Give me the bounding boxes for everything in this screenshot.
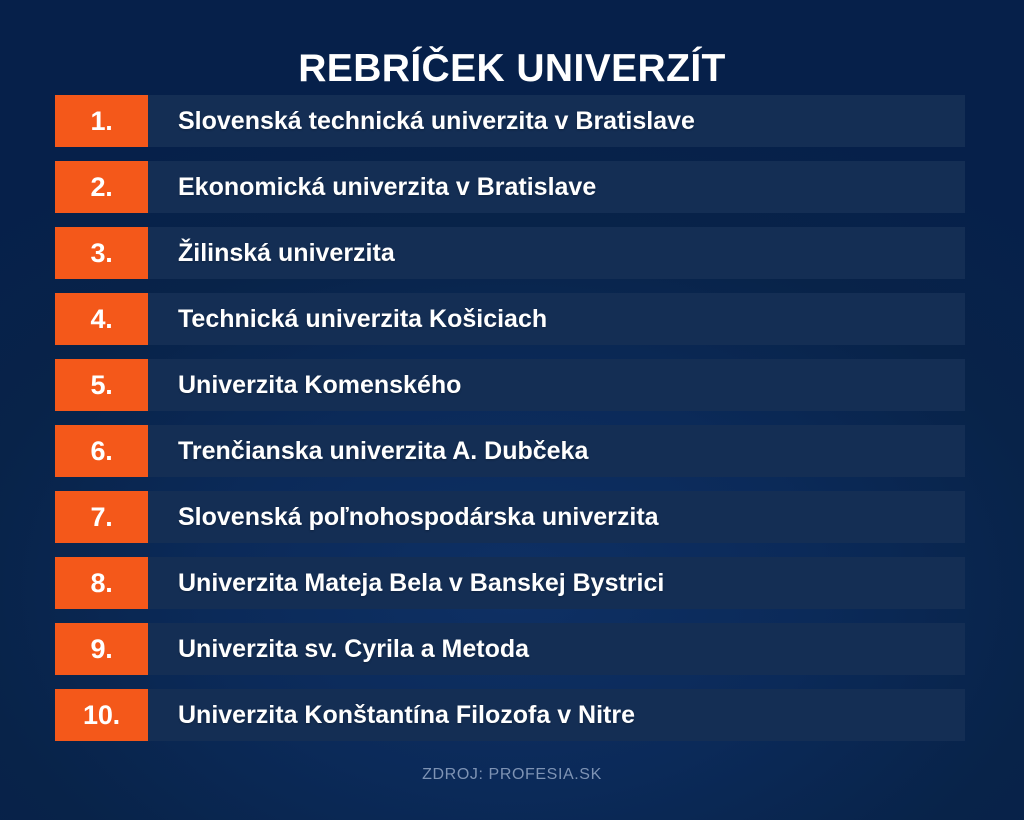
list-item: 2. Ekonomická univerzita v Bratislave	[55, 161, 965, 213]
rank-number: 7.	[90, 504, 112, 531]
list-item: 1. Slovenská technická univerzita v Brat…	[55, 95, 965, 147]
university-name: Technická univerzita Košiciach	[148, 293, 547, 345]
list-item: 4. Technická univerzita Košiciach	[55, 293, 965, 345]
rank-number: 4.	[90, 306, 112, 333]
source-attribution: ZDROJ: PROFESIA.SK	[422, 765, 602, 785]
rank-number: 9.	[90, 636, 112, 663]
university-name: Žilinská univerzita	[148, 227, 395, 279]
list-item: 10. Univerzita Konštantína Filozofa v Ni…	[55, 689, 965, 741]
university-name: Ekonomická univerzita v Bratislave	[148, 161, 596, 213]
list-item: 9. Univerzita sv. Cyrila a Metoda	[55, 623, 965, 675]
rank-badge: 3.	[55, 227, 148, 279]
rank-badge: 2.	[55, 161, 148, 213]
rank-number: 5.	[90, 372, 112, 399]
university-name: Univerzita Konštantína Filozofa v Nitre	[148, 689, 635, 741]
rank-badge: 7.	[55, 491, 148, 543]
university-name: Slovenská technická univerzita v Bratisl…	[148, 95, 695, 147]
list-item: 6. Trenčianska univerzita A. Dubčeka	[55, 425, 965, 477]
rank-number: 8.	[90, 570, 112, 597]
source-container: ZDROJ: PROFESIA.SK	[0, 765, 1024, 785]
rank-badge: 1.	[55, 95, 148, 147]
list-item: 3. Žilinská univerzita	[55, 227, 965, 279]
rank-number: 6.	[90, 438, 112, 465]
ranking-list: 1. Slovenská technická univerzita v Brat…	[55, 95, 965, 741]
rank-number: 10.	[83, 702, 120, 729]
rank-badge: 5.	[55, 359, 148, 411]
rank-badge: 6.	[55, 425, 148, 477]
rank-number: 3.	[90, 240, 112, 267]
rank-badge: 8.	[55, 557, 148, 609]
rank-badge: 10.	[55, 689, 148, 741]
university-name: Trenčianska univerzita A. Dubčeka	[148, 425, 588, 477]
list-item: 8. Univerzita Mateja Bela v Banskej Byst…	[55, 557, 965, 609]
list-item: 5. Univerzita Komenského	[55, 359, 965, 411]
list-item: 7. Slovenská poľnohospodárska univerzita	[55, 491, 965, 543]
rank-badge: 9.	[55, 623, 148, 675]
university-ranking-infographic: REBRÍČEK UNIVERZÍT 1. Slovenská technick…	[0, 0, 1024, 820]
rank-badge: 4.	[55, 293, 148, 345]
university-name: Univerzita Komenského	[148, 359, 461, 411]
university-name: Univerzita Mateja Bela v Banskej Bystric…	[148, 557, 664, 609]
rank-number: 1.	[90, 108, 112, 135]
rank-number: 2.	[90, 174, 112, 201]
page-title: REBRÍČEK UNIVERZÍT	[298, 46, 726, 92]
university-name: Univerzita sv. Cyrila a Metoda	[148, 623, 529, 675]
university-name: Slovenská poľnohospodárska univerzita	[148, 491, 659, 543]
